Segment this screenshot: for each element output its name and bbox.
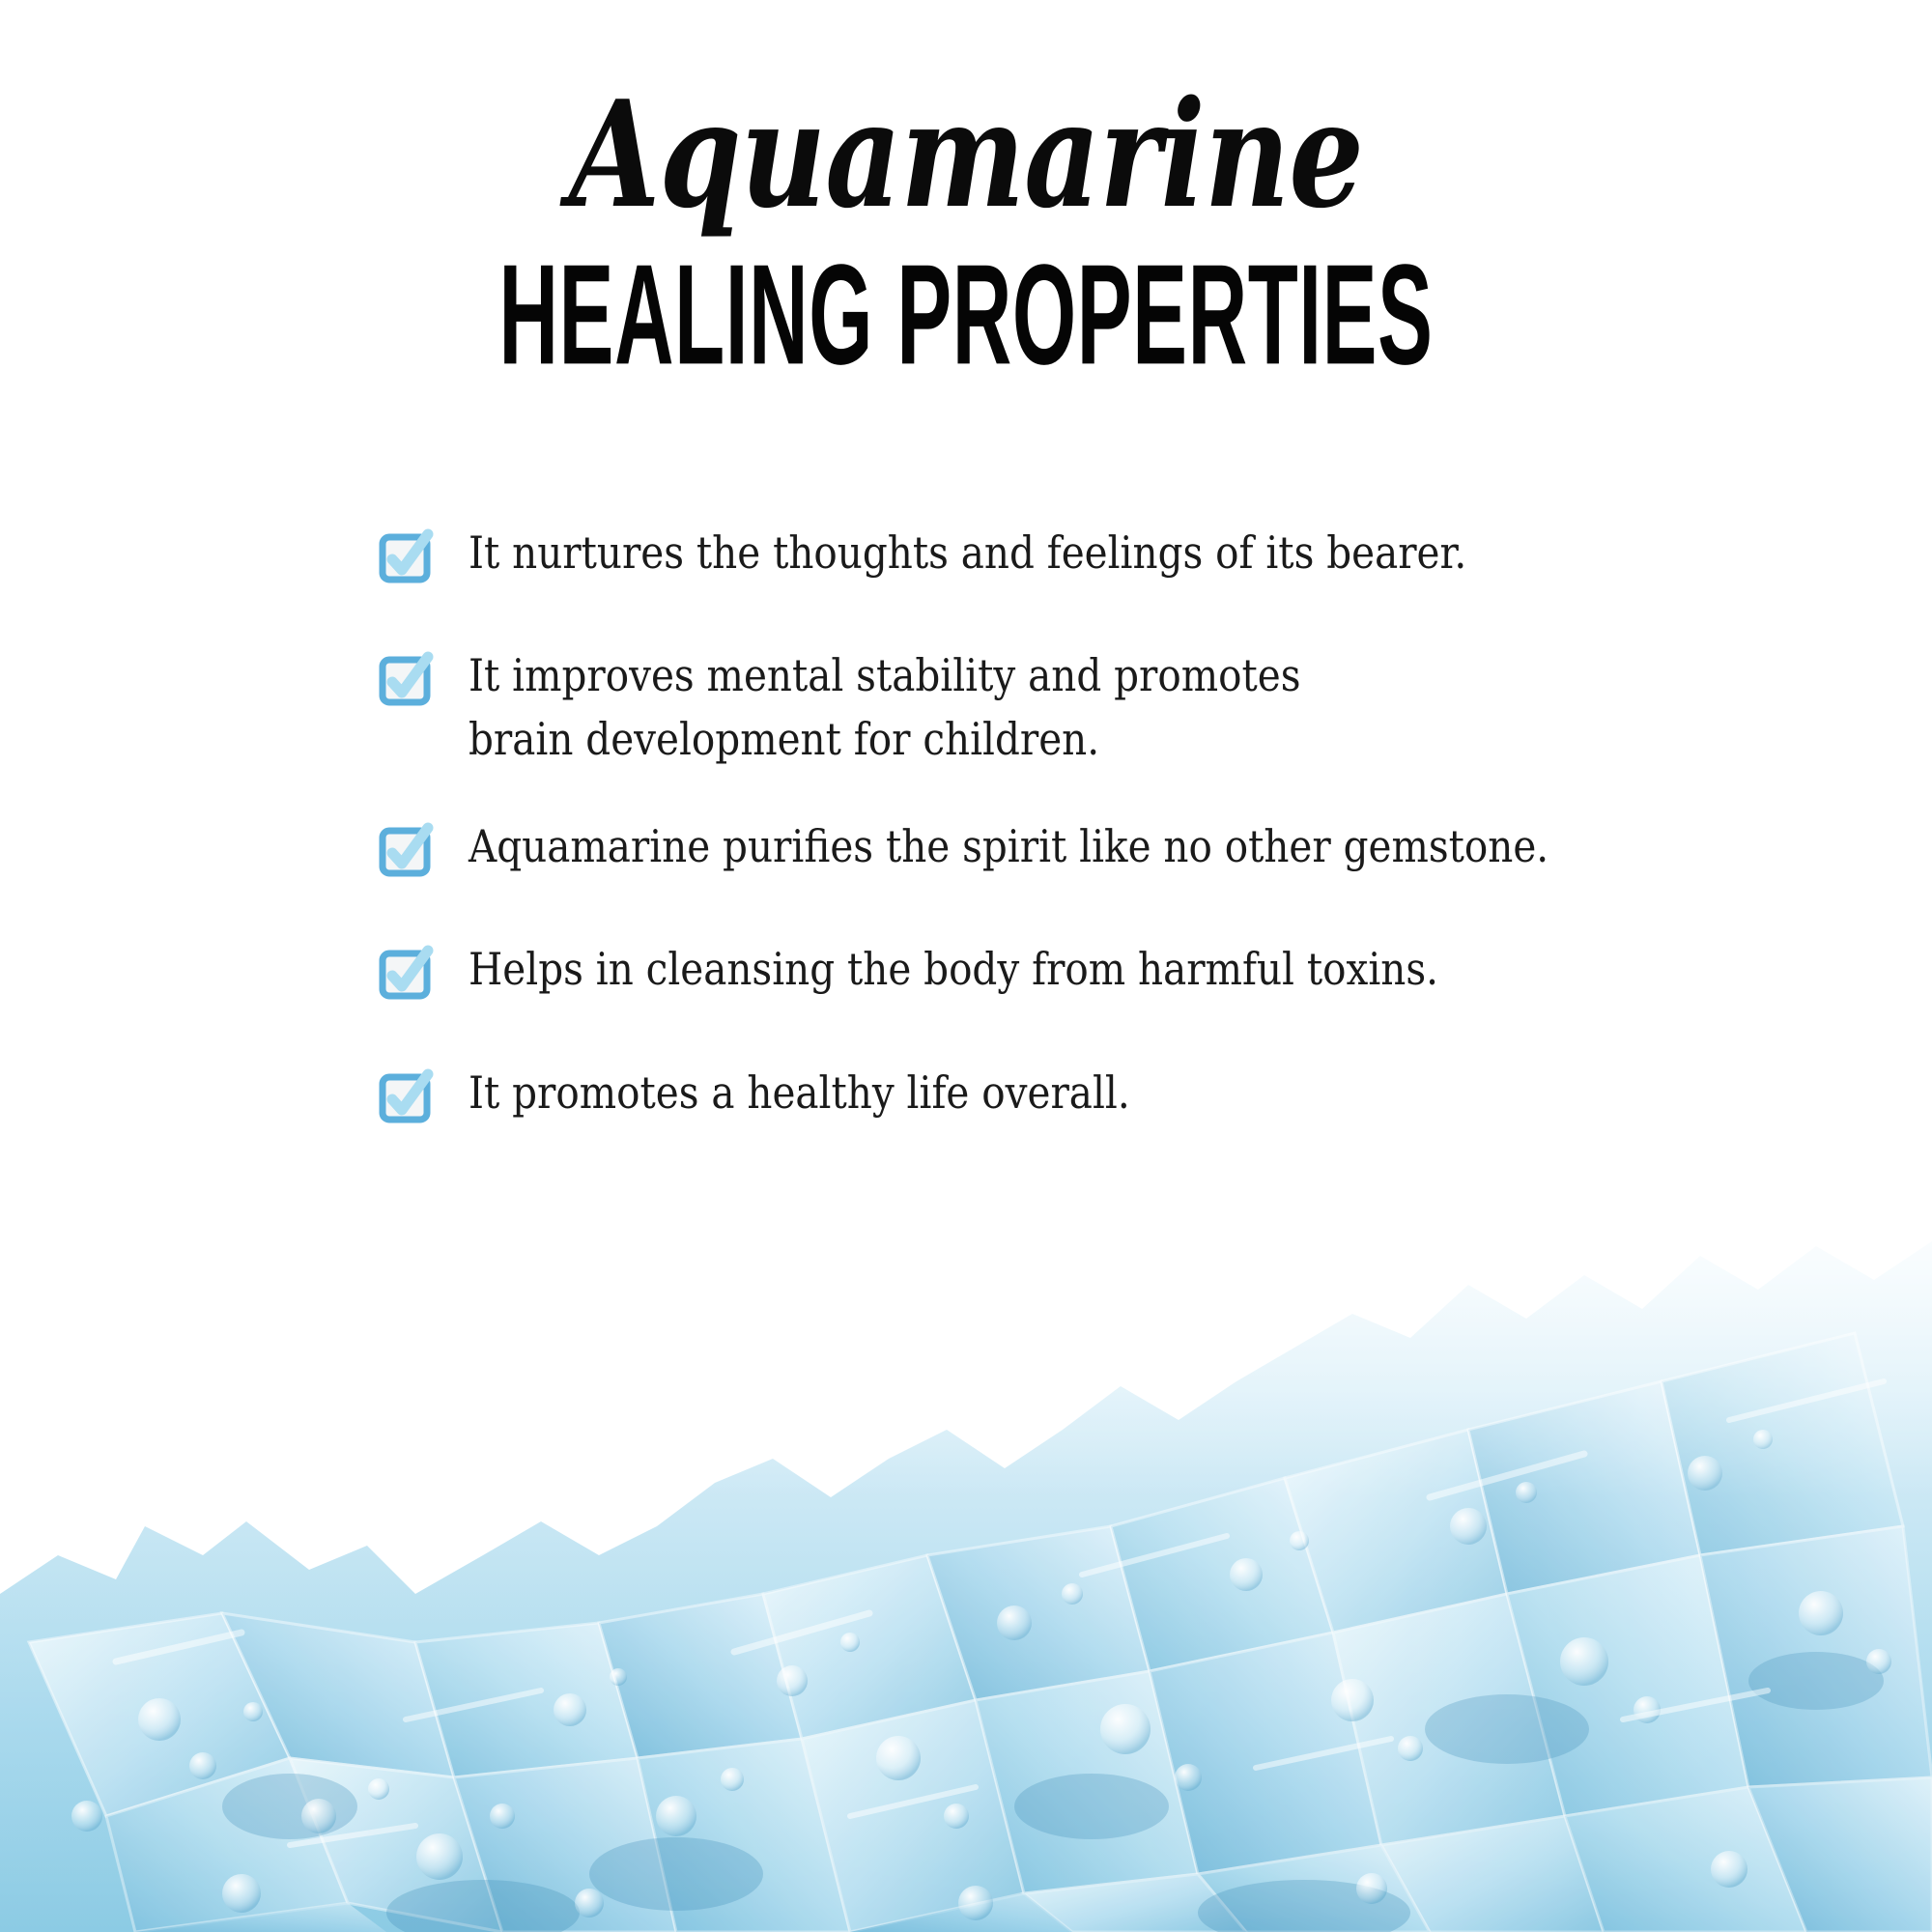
list-item: It improves mental stability and promote… bbox=[380, 644, 1848, 771]
list-item-label: It improves mental stability and promote… bbox=[469, 644, 1683, 771]
page-subtitle: HEALING PROPERTIES bbox=[386, 228, 1546, 382]
list-item: It nurtures the thoughts and feelings of… bbox=[380, 522, 1848, 584]
poster-canvas: Aquamarine HEALING PROPERTIES It nurture… bbox=[0, 0, 1932, 1932]
list-item-label: It promotes a healthy life overall. bbox=[469, 1062, 1683, 1124]
list-item-label: Aquamarine purifies the spirit like no o… bbox=[469, 815, 1683, 878]
checkbox-checked-icon bbox=[380, 826, 432, 878]
checkbox-checked-icon bbox=[380, 1072, 432, 1124]
checkbox-checked-icon bbox=[380, 532, 432, 584]
page-title: Aquamarine bbox=[193, 0, 1739, 228]
list-item: Helps in cleansing the body from harmful… bbox=[380, 938, 1848, 1001]
checkbox-checked-icon bbox=[380, 949, 432, 1001]
list-item: Aquamarine purifies the spirit like no o… bbox=[380, 815, 1848, 878]
healing-properties-list: It nurtures the thoughts and feelings of… bbox=[380, 522, 1848, 1124]
checkbox-checked-icon bbox=[380, 655, 432, 707]
list-item-label: Helps in cleansing the body from harmful… bbox=[469, 938, 1683, 1001]
list-item-label: It nurtures the thoughts and feelings of… bbox=[469, 522, 1683, 584]
poster-header: Aquamarine HEALING PROPERTIES bbox=[0, 0, 1932, 376]
list-item: It promotes a healthy life overall. bbox=[380, 1062, 1848, 1124]
ice-cubes-photo bbox=[0, 1140, 1932, 1932]
